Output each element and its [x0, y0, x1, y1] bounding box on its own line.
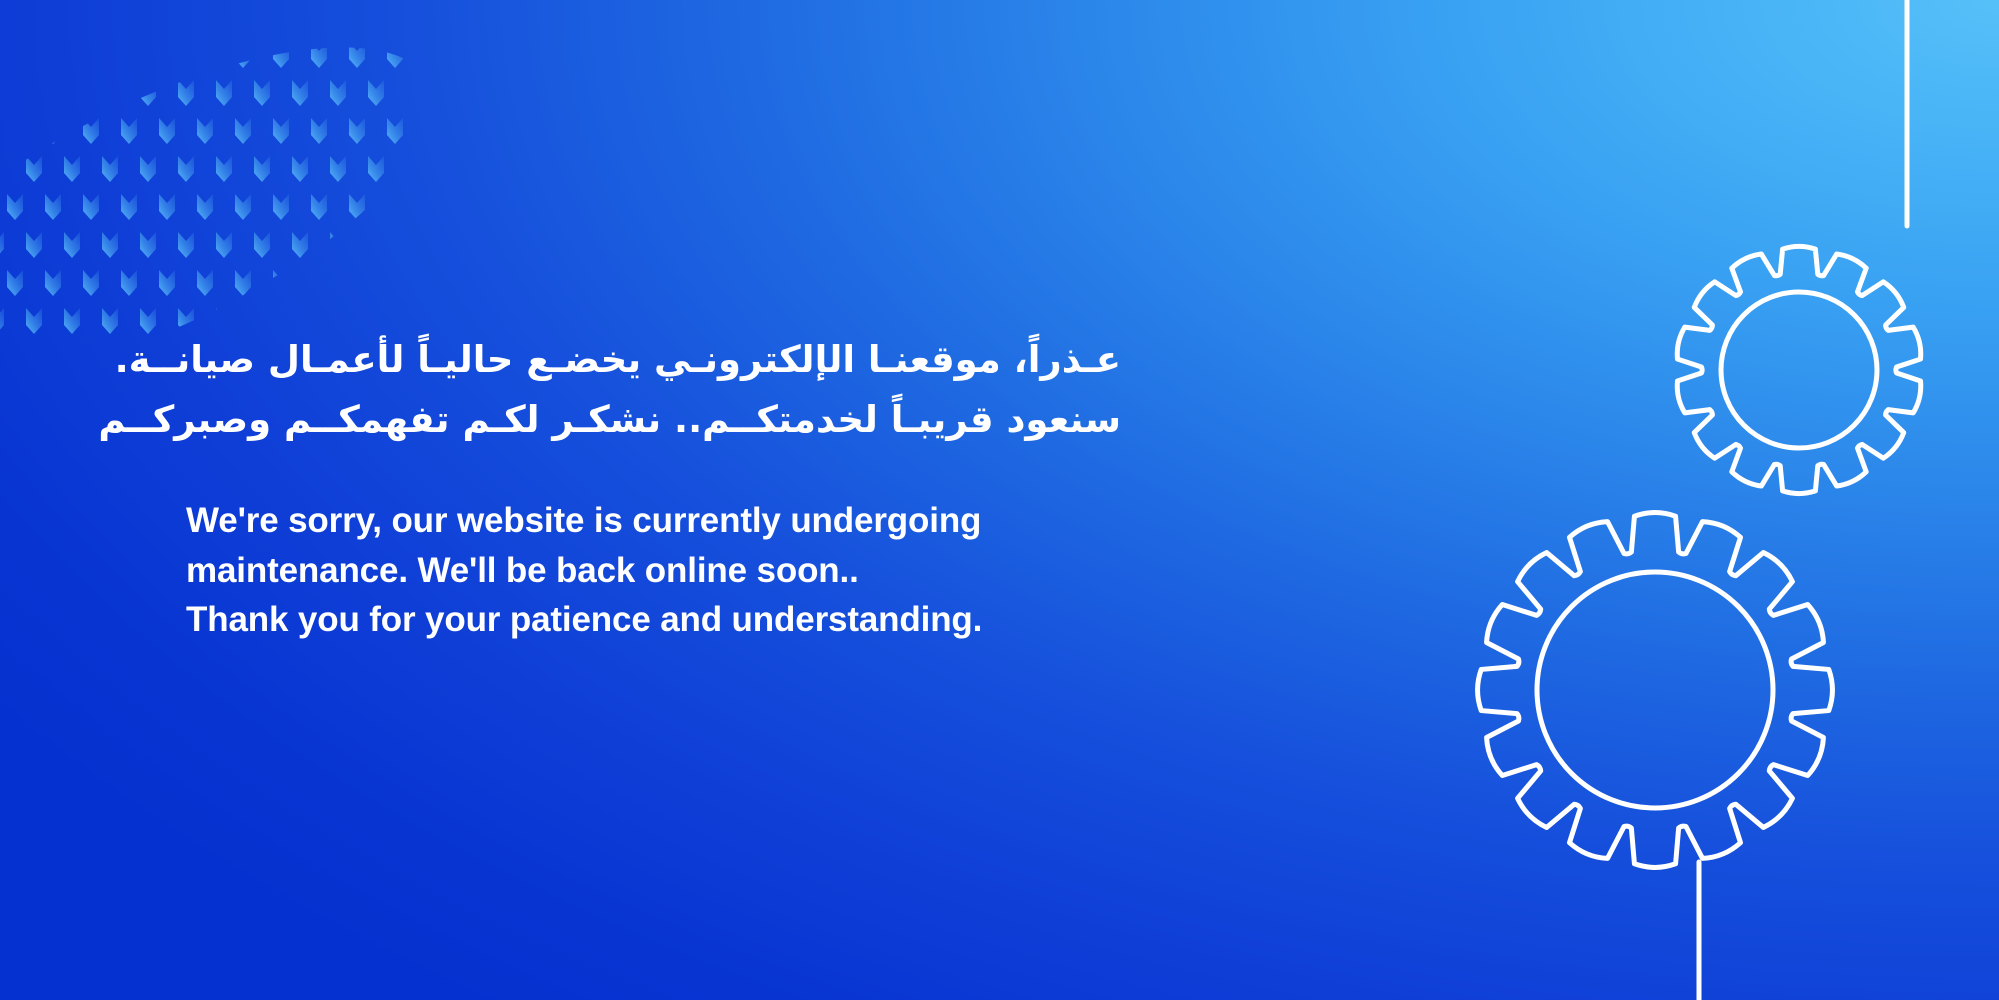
chevron-pattern	[0, 0, 430, 360]
gear-illustration-svg	[1379, 0, 1999, 1000]
arabic-message: عـذراً، موقعنـا الإلكترونـي يخضـع حاليـا…	[186, 330, 1121, 450]
english-message: We're sorry, our website is currently un…	[186, 496, 1186, 645]
english-message-line-2: maintenance. We'll be back online soon..	[186, 546, 1186, 596]
english-message-line-3: Thank you for your patience and understa…	[186, 595, 1186, 645]
english-message-line-1: We're sorry, our website is currently un…	[186, 496, 1186, 546]
maintenance-message: عـذراً، موقعنـا الإلكترونـي يخضـع حاليـا…	[186, 330, 1186, 645]
small-gear-hub	[1721, 292, 1877, 448]
arabic-message-line-2: سنعود قريبـاً لخدمتكــم.. نشكـر لكـم تفه…	[186, 390, 1121, 450]
large-gear-hub	[1537, 572, 1773, 808]
maintenance-page: عـذراً، موقعنـا الإلكترونـي يخضـع حاليـا…	[0, 0, 1999, 1000]
large-gear	[1478, 513, 1833, 868]
small-gear	[1677, 246, 1921, 493]
arabic-message-line-1: عـذراً، موقعنـا الإلكترونـي يخضـع حاليـا…	[186, 330, 1121, 390]
gear-illustration	[1379, 0, 1999, 1000]
chevron-pattern-svg	[0, 0, 430, 360]
